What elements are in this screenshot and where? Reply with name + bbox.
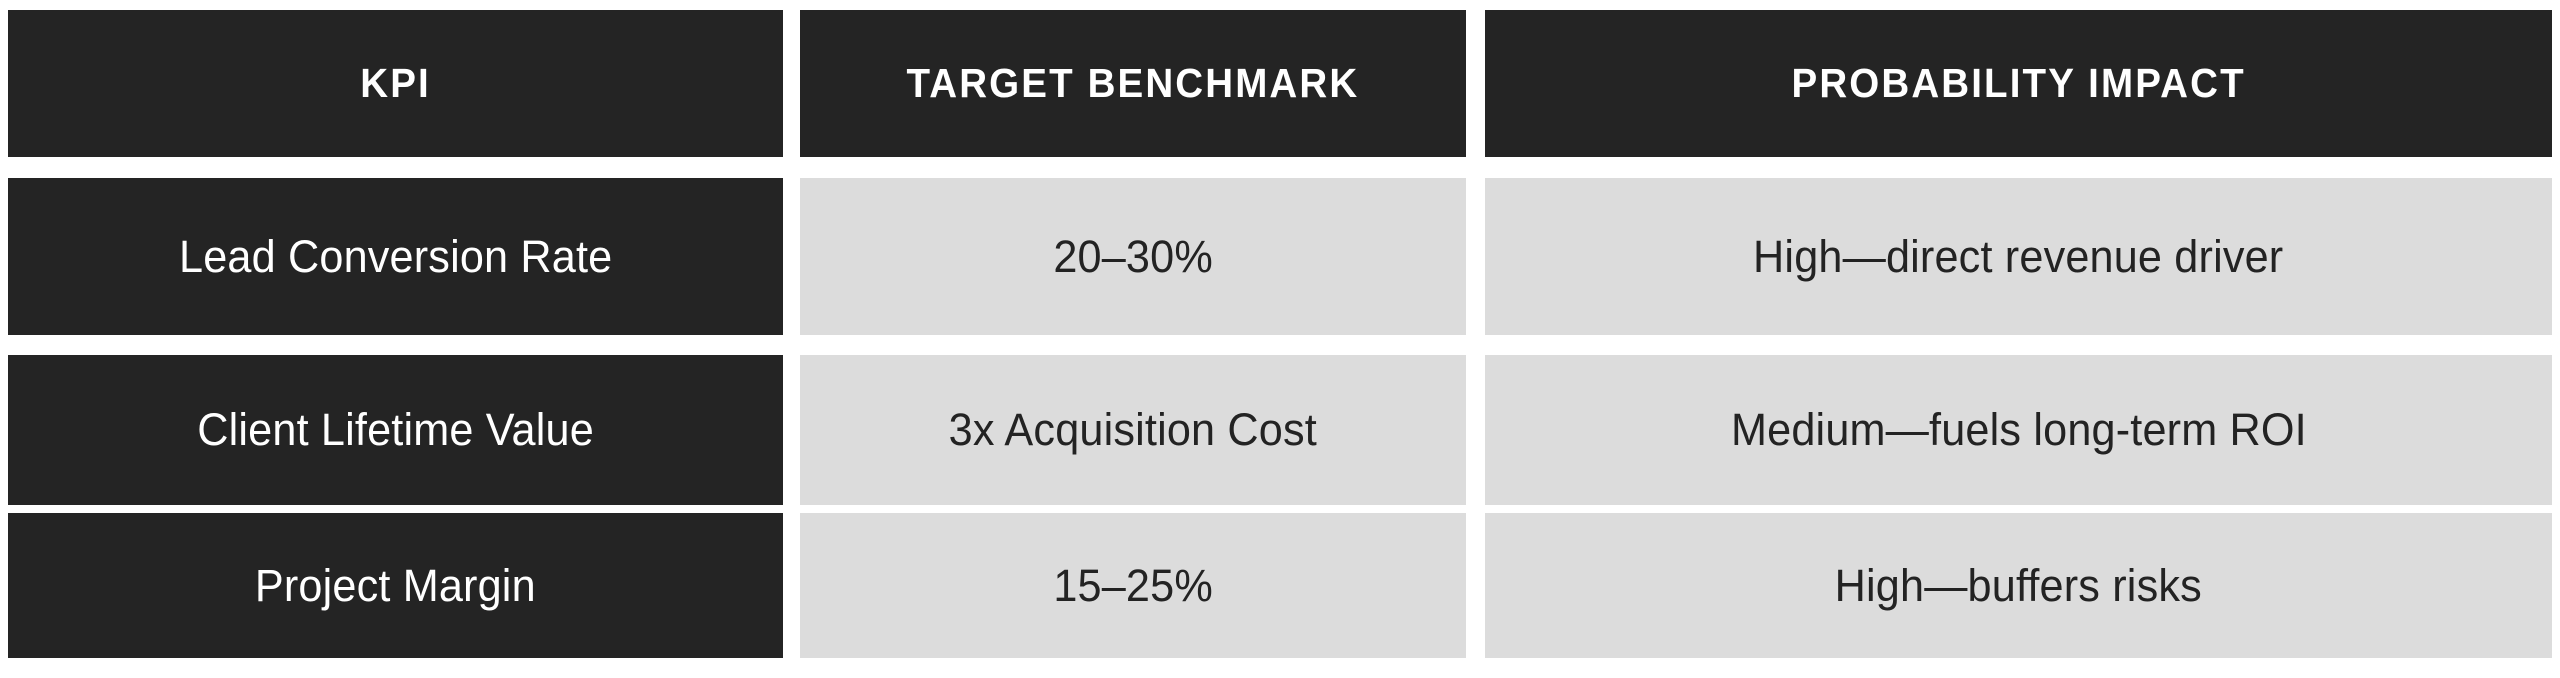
row-gap-header-spacer-1: [783, 157, 800, 178]
column-gap-r3-2: [1466, 513, 1485, 658]
kpi-table: KPI TARGET BENCHMARK PROBABILITY IMPACT …: [0, 0, 2560, 678]
column-header-target-benchmark: TARGET BENCHMARK: [800, 10, 1466, 157]
cell-kpi-2: Client Lifetime Value: [197, 405, 594, 455]
row-gap-1-spacer-4: [1485, 335, 2552, 355]
table-row: 3x Acquisition Cost: [800, 355, 1466, 505]
row-gap-2-spacer-2: [800, 505, 1466, 513]
row-gap-2: [8, 505, 783, 513]
row-gap-header-spacer-2: [800, 157, 1466, 178]
table-row: 20–30%: [800, 178, 1466, 335]
column-header-probability-impact-label: PROBABILITY IMPACT: [1791, 62, 2245, 105]
table-row: 15–25%: [800, 513, 1466, 658]
column-gap-1: [783, 10, 800, 157]
row-gap-1: [8, 335, 783, 355]
row-gap-1-spacer-1: [783, 335, 800, 355]
cell-probability-impact-2: Medium—fuels long-term ROI: [1731, 405, 2307, 455]
column-gap-r2-2: [1466, 355, 1485, 505]
row-gap-1-spacer-2: [800, 335, 1466, 355]
column-header-target-benchmark-label: TARGET BENCHMARK: [907, 62, 1360, 105]
table-row: Lead Conversion Rate: [8, 178, 783, 335]
table-row: High—direct revenue driver: [1485, 178, 2552, 335]
row-gap-header: [8, 157, 783, 178]
table-row: Client Lifetime Value: [8, 355, 783, 505]
column-gap-r1-2: [1466, 178, 1485, 335]
row-gap-2-spacer-3: [1466, 505, 1485, 513]
column-header-kpi: KPI: [8, 10, 783, 157]
cell-target-benchmark-3: 15–25%: [1053, 561, 1213, 611]
row-gap-2-spacer-1: [783, 505, 800, 513]
row-gap-1-spacer-3: [1466, 335, 1485, 355]
column-gap-r1-1: [783, 178, 800, 335]
table-row: Project Margin: [8, 513, 783, 658]
column-gap-r3-1: [783, 513, 800, 658]
row-gap-2-spacer-4: [1485, 505, 2552, 513]
column-header-kpi-label: KPI: [360, 62, 431, 105]
cell-kpi-3: Project Margin: [255, 561, 536, 611]
column-header-probability-impact: PROBABILITY IMPACT: [1485, 10, 2552, 157]
row-gap-header-spacer-3: [1466, 157, 1485, 178]
column-gap-2: [1466, 10, 1485, 157]
cell-target-benchmark-2: 3x Acquisition Cost: [949, 405, 1317, 455]
column-gap-r2-1: [783, 355, 800, 505]
cell-probability-impact-3: High—buffers risks: [1835, 561, 2202, 611]
table-row: Medium—fuels long-term ROI: [1485, 355, 2552, 505]
cell-probability-impact-1: High—direct revenue driver: [1753, 232, 2283, 282]
row-gap-header-spacer-4: [1485, 157, 2552, 178]
cell-target-benchmark-1: 20–30%: [1053, 232, 1213, 282]
table-row: High—buffers risks: [1485, 513, 2552, 658]
table-grid: KPI TARGET BENCHMARK PROBABILITY IMPACT …: [8, 10, 2552, 660]
cell-kpi-1: Lead Conversion Rate: [179, 232, 612, 282]
